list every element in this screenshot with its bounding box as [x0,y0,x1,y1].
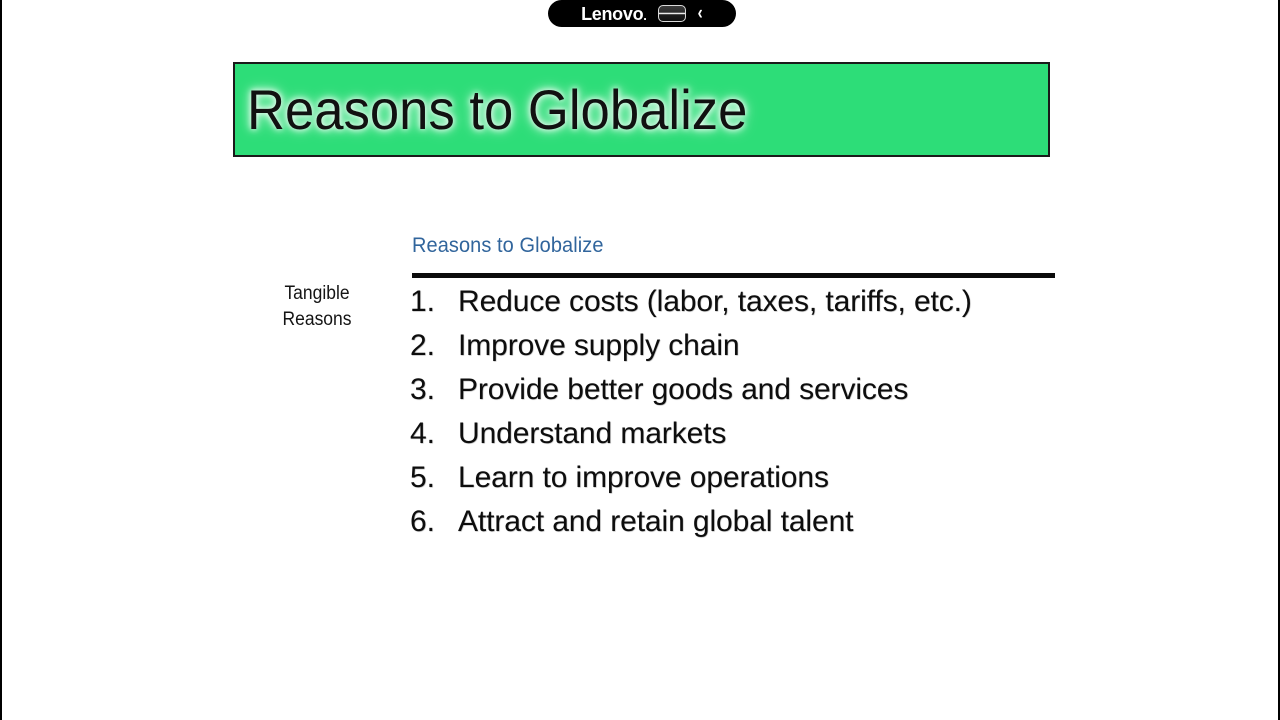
list-item: 1. Reduce costs (labor, taxes, tariffs, … [410,287,1070,331]
lenovo-wordmark: Lenovo. [581,5,647,23]
lenovo-brand-text: Lenovo [581,4,643,24]
list-item-label: Understand markets [458,419,726,449]
list-item: 3. Provide better goods and services [410,375,1070,419]
chevron-left-icon: ‹ [697,4,702,23]
category-label-tangible-reasons: Tangible Reasons [265,281,370,333]
list-item-label: Improve supply chain [458,331,739,361]
list-item: 6. Attract and retain global talent [410,507,1070,551]
category-label-line-2: Reasons [265,307,370,333]
list-item: 2. Improve supply chain [410,331,1070,375]
list-item-number: 1. [410,287,458,317]
display-panel-icon [658,5,686,22]
list-item-number: 6. [410,507,458,537]
list-item-number: 3. [410,375,458,405]
list-item-label: Attract and retain global talent [458,507,853,537]
slide-title-banner: Reasons to Globalize [233,62,1050,157]
reasons-list: 1. Reduce costs (labor, taxes, tariffs, … [410,287,1070,551]
list-item-number: 2. [410,331,458,361]
lenovo-brand-dot: . [643,8,646,23]
list-item-label: Provide better goods and services [458,375,908,405]
list-item: 5. Learn to improve operations [410,463,1070,507]
list-item-label: Reduce costs (labor, taxes, tariffs, etc… [458,287,972,317]
lenovo-osd-badge: Lenovo. ‹ [548,0,736,27]
category-label-line-1: Tangible [265,281,370,307]
list-item-number: 5. [410,463,458,493]
page-title: Reasons to Globalize [247,82,747,138]
subheading-divider [412,273,1055,278]
list-item: 4. Understand markets [410,419,1070,463]
slide-canvas: Lenovo. ‹ Reasons to Globalize Tangible … [0,0,1280,720]
list-item-number: 4. [410,419,458,449]
list-item-label: Learn to improve operations [458,463,829,493]
section-subheading: Reasons to Globalize [412,235,604,256]
